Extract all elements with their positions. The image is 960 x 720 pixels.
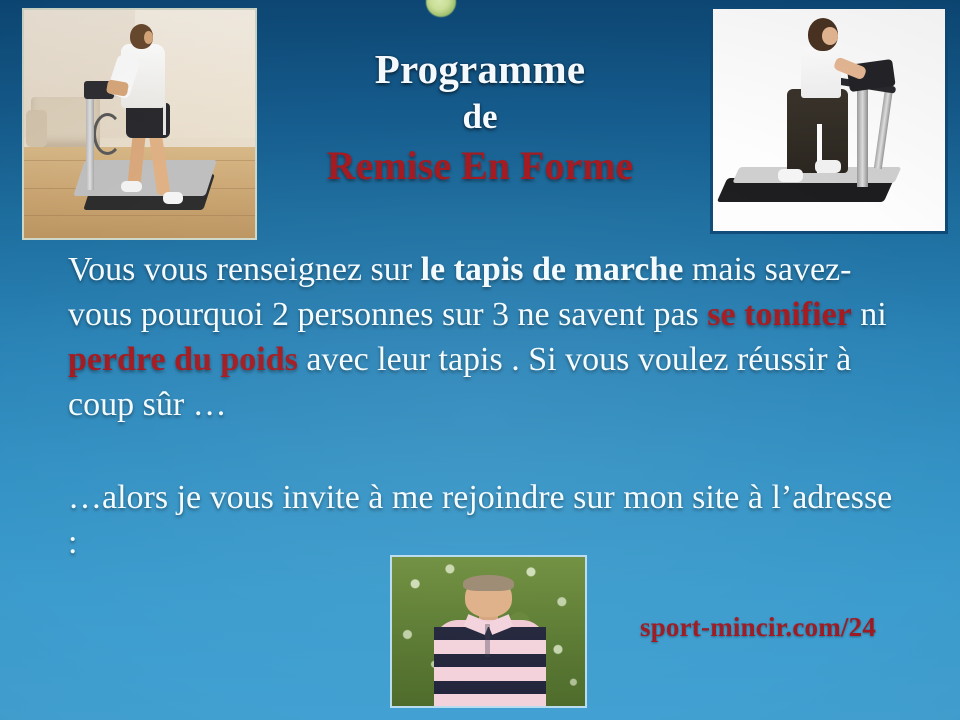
paragraph-invitation: …alors je vous invite à me rejoindre sur… [68,475,908,565]
para1-emphasis-tonifier: se tonifier [707,296,851,333]
photo-treadmill-man [22,8,257,240]
presentation-slide: Programme de Remise En Forme Vous vous r… [0,0,960,720]
body-copy: Vous vous renseignez sur le tapis de mar… [68,247,908,565]
title-line-remise-en-forme: Remise En Forme [262,145,698,187]
paragraph-intro: Vous vous renseignez sur le tapis de mar… [68,247,908,427]
para1-emphasis-tapis: le tapis de marche [421,251,684,288]
slide-title: Programme de Remise En Forme [262,48,698,187]
photo-author-portrait [390,555,587,708]
site-url-text: sport-mincir.com/24 [640,612,876,643]
para1-seg5: ni [852,296,887,333]
title-line-programme: Programme [262,48,698,91]
glow-dot-icon [426,0,456,17]
title-line-de: de [262,98,698,135]
para1-emphasis-poids: perdre du poids [68,341,298,378]
para2-seg1: …alors je vous invite à me rejoindre sur… [68,479,892,561]
photo-treadmill-woman [710,6,948,234]
para1-seg1: Vous vous renseignez sur [68,251,421,288]
